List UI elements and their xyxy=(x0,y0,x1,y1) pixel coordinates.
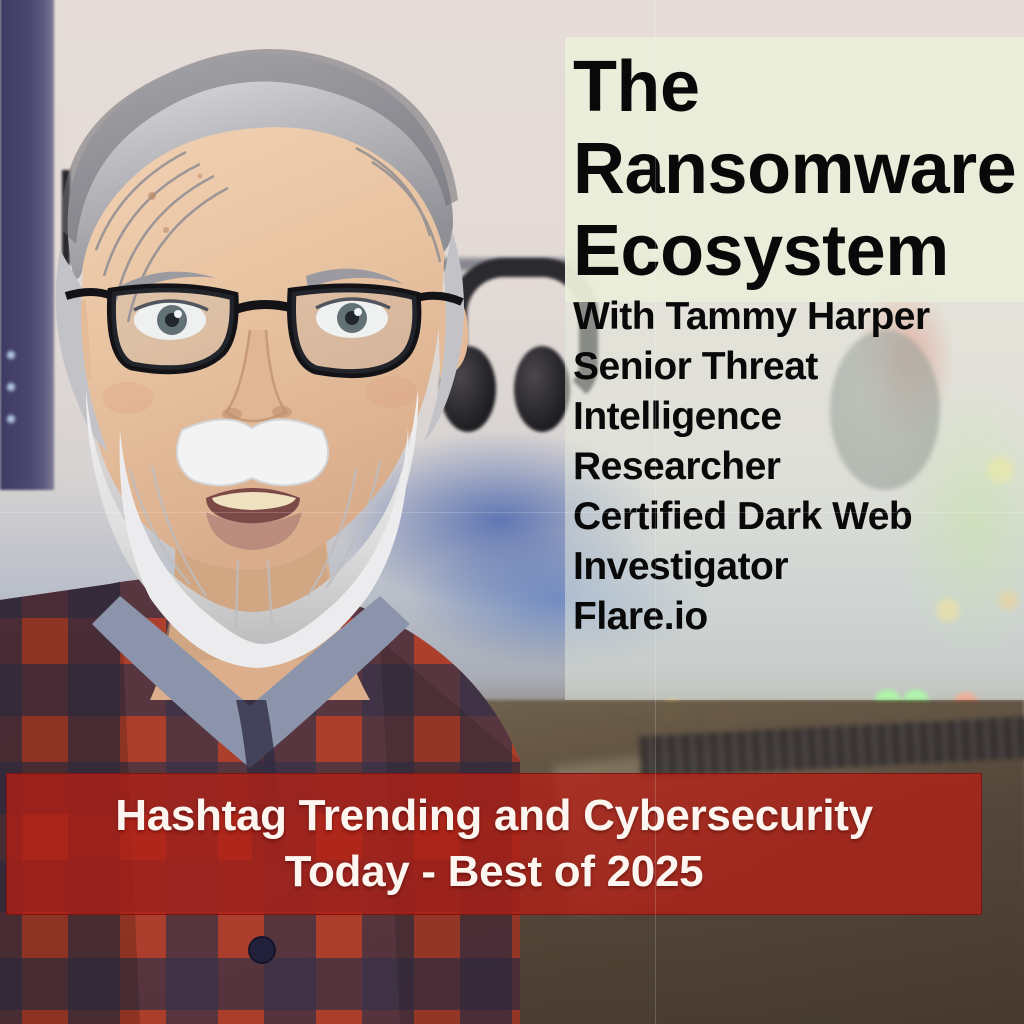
title-line-3: Ecosystem xyxy=(573,210,1023,292)
subtitle-line-6: Investigator xyxy=(573,542,1023,592)
subtitle-line-4: Researcher xyxy=(573,442,1023,492)
show-title-banner: Hashtag Trending and Cybersecurity Today… xyxy=(6,773,982,915)
subtitle-line-5: Certified Dark Web xyxy=(573,492,1023,542)
subtitle-line-1: With Tammy Harper xyxy=(573,292,1023,342)
banner-line-2: Today - Best of 2025 xyxy=(285,844,704,900)
cover-text-block: The Ransomware Ecosystem With Tammy Harp… xyxy=(573,46,1023,642)
banner-line-1: Hashtag Trending and Cybersecurity xyxy=(115,788,873,844)
title-line-2: Ransomware xyxy=(573,128,1023,210)
subtitle-line-2: Senior Threat xyxy=(573,342,1023,392)
subtitle-line-7: Flare.io xyxy=(573,592,1023,642)
guide-horizontal xyxy=(0,512,1024,513)
subtitle-line-3: Intelligence xyxy=(573,392,1023,442)
title-line-1: The xyxy=(573,46,1023,128)
podcast-cover-art: The Ransomware Ecosystem With Tammy Harp… xyxy=(0,0,1024,1024)
